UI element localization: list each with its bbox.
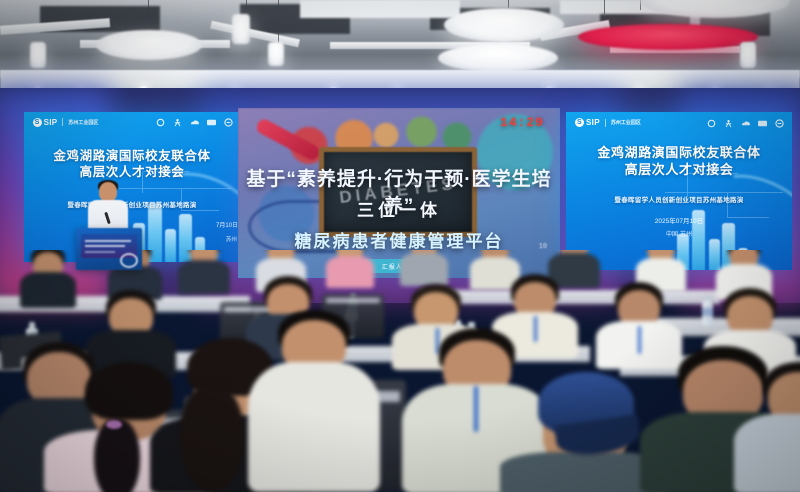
left-screen-logo-bar: S SIP 苏州工业园区 xyxy=(24,117,240,135)
sip-logo-cn: 苏州工业园区 xyxy=(68,119,98,126)
pendant-light-small xyxy=(30,42,46,68)
long-hair xyxy=(180,384,244,492)
right-title-line-2: 高层次人才对接会 xyxy=(566,162,792,179)
partner-figure-icon xyxy=(723,119,734,128)
left-screen-title: 金鸡湖路演国际校友联合体 高层次人才对接会 xyxy=(24,148,240,180)
right-screen-location: 中国·苏州 xyxy=(566,229,792,238)
audience-member xyxy=(326,250,374,288)
sip-logo: S SIP 苏州工业园区 xyxy=(33,118,99,127)
pendant-light xyxy=(438,44,558,72)
right-screen-title: 金鸡湖路演国际校友联合体 高层次人才对接会 xyxy=(566,145,792,178)
presentation-timer: 14:29 xyxy=(500,115,544,130)
left-screen-partner-logos xyxy=(155,118,234,127)
podium xyxy=(76,228,142,270)
partner-sip-icon xyxy=(223,118,234,127)
partner-figure-icon xyxy=(172,118,183,127)
partner-ring-icon xyxy=(706,119,717,128)
sip-mark-icon: S xyxy=(575,118,584,127)
sip-mark-icon: S xyxy=(33,118,42,127)
right-screen-subtitle: 暨春晖留学人员创新创业项目苏州基地路演 xyxy=(566,194,792,204)
partner-sip-icon xyxy=(774,119,785,128)
left-title-line-2: 高层次人才对接会 xyxy=(24,164,240,180)
pendant-light-red xyxy=(578,24,758,50)
pendant-light-small xyxy=(268,42,284,66)
audience-member xyxy=(178,250,230,294)
audience-member-foreground xyxy=(248,310,380,492)
audience-area xyxy=(0,250,800,492)
partner-cloud-icon xyxy=(189,118,200,127)
logo-divider xyxy=(605,119,606,127)
right-title-line-1: 金鸡湖路演国际校友联合体 xyxy=(566,145,792,162)
audience-member-foreground xyxy=(734,362,800,492)
sip-logo-cn: 苏州工业园区 xyxy=(611,119,641,126)
ponytail xyxy=(94,418,140,492)
audience-member xyxy=(20,250,76,308)
pendant-light-small xyxy=(740,42,756,68)
right-projection-screen: S SIP 苏州工业园区 金鸡湖路演国际校友联合体 高层次人才对接会 暨春晖留学… xyxy=(566,112,792,270)
podium-logo-icon xyxy=(120,253,138,268)
partner-cloud-icon xyxy=(740,119,751,128)
audience-member xyxy=(400,250,448,286)
slide-platform-name: 糖尿病患者健康管理平台 xyxy=(238,227,560,252)
hair-tie xyxy=(106,420,122,429)
right-screen-logo-bar: S SIP 苏州工业园区 xyxy=(566,117,792,136)
logo-divider xyxy=(62,118,63,126)
pendant-light xyxy=(96,30,202,60)
slide-subhead: 三位一体 xyxy=(238,196,560,221)
partner-block-icon xyxy=(206,118,217,127)
partner-ring-icon xyxy=(155,118,166,127)
sip-logo-text: SIP xyxy=(44,118,58,127)
partner-block-icon xyxy=(757,119,768,128)
pendant-light xyxy=(444,8,564,42)
left-screen-subtitle: 暨春晖留学人员创新创业项目苏州基地路演 xyxy=(24,199,240,209)
pendant-light-small xyxy=(232,14,250,44)
ceiling xyxy=(0,0,800,78)
sip-logo-text: SIP xyxy=(586,118,600,127)
lanyard xyxy=(474,386,478,432)
right-screen-partner-logos xyxy=(706,119,785,128)
conference-photo: S SIP 苏州工业园区 金鸡湖路演国际校友联合体 高层次人才对接会 暨春晖留学… xyxy=(0,0,800,492)
right-screen-date: 2025年07月10日 xyxy=(566,215,792,225)
left-title-line-1: 金鸡湖路演国际校友联合体 xyxy=(24,148,240,164)
sip-logo: S SIP 苏州工业园区 xyxy=(575,118,641,127)
